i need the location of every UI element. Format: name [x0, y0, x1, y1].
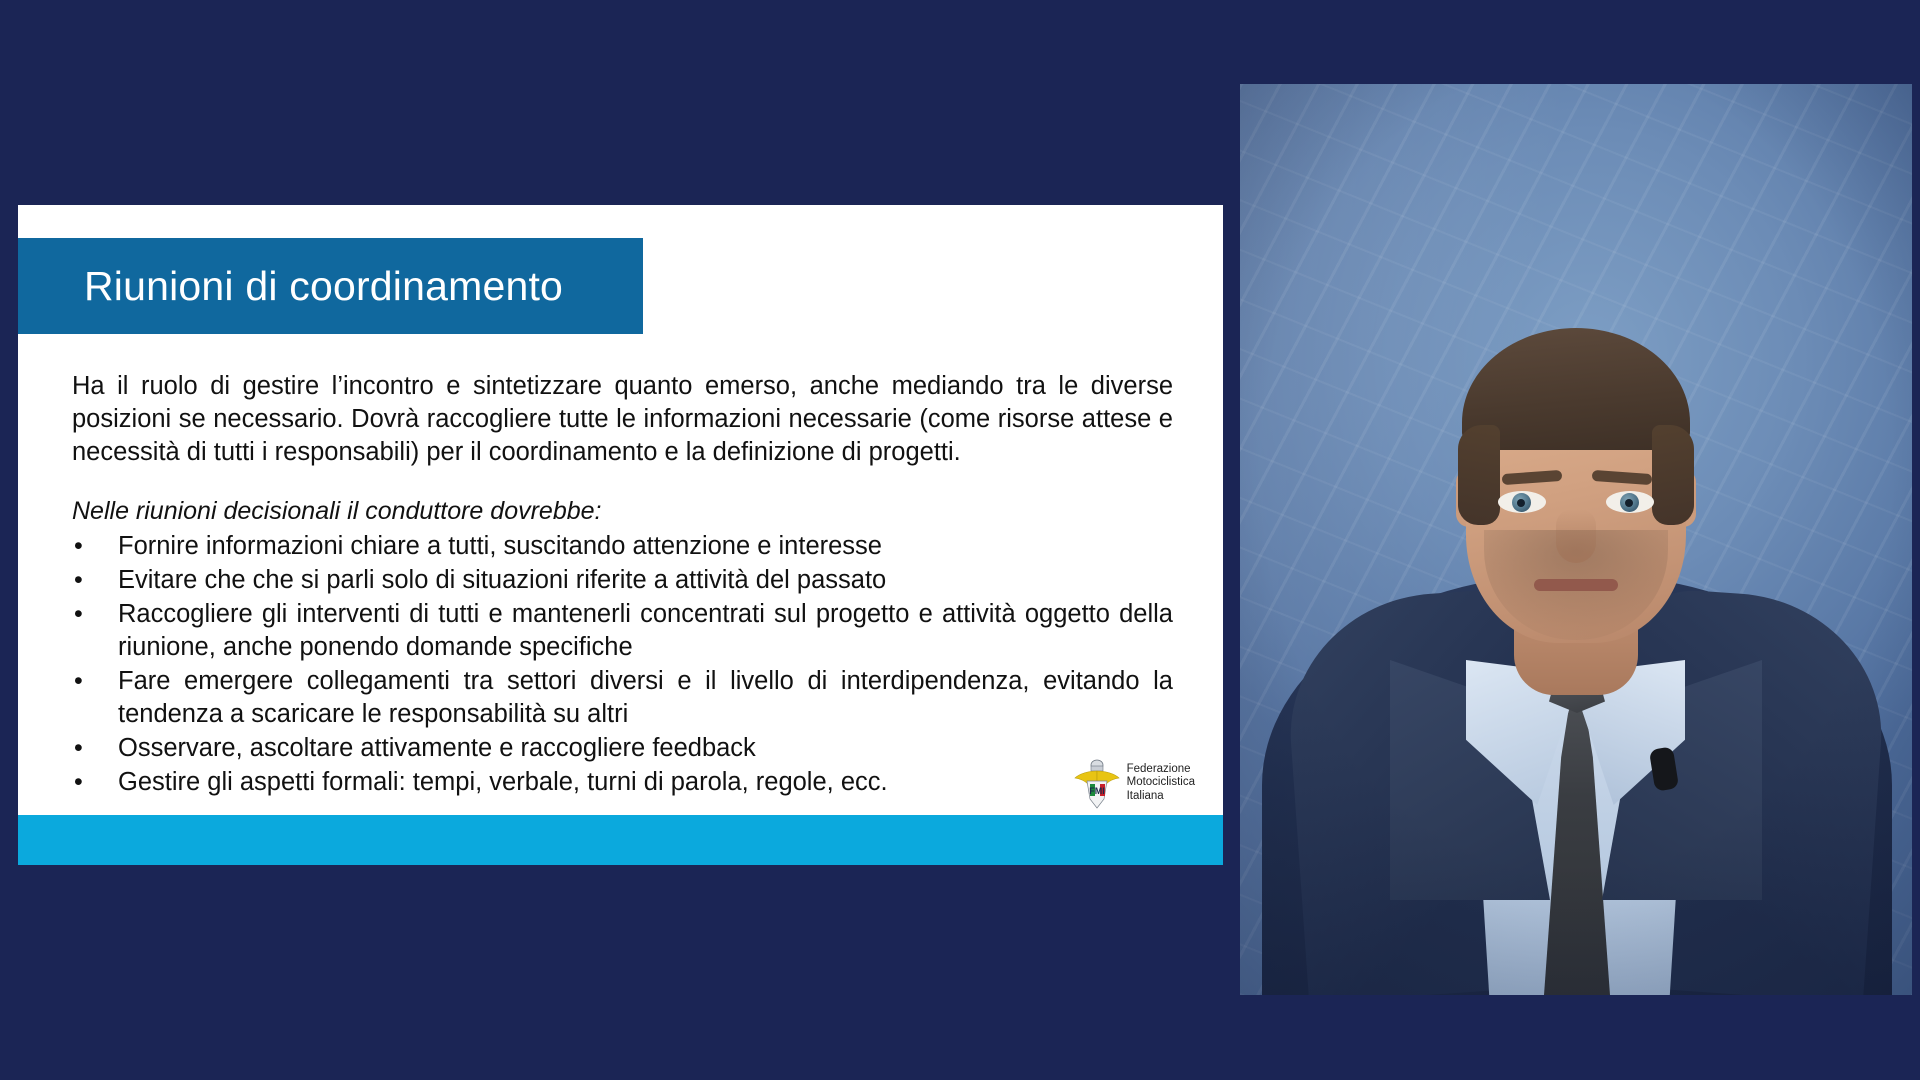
bullet-list: • Fornire informazioni chiare a tutti, s…: [72, 530, 1173, 799]
list-item-text: Fare emergere collegamenti tra settori d…: [118, 667, 1173, 728]
list-item-text: Gestire gli aspetti formali: tempi, verb…: [118, 768, 888, 796]
bullet-icon: •: [74, 732, 83, 765]
bullet-icon: •: [74, 766, 83, 799]
slide-content: Ha il ruolo di gestire l’incontro e sint…: [72, 370, 1173, 800]
list-item: • Gestire gli aspetti formali: tempi, ve…: [72, 766, 1173, 799]
fmi-logo-line1: Federazione: [1127, 763, 1195, 777]
bullet-icon: •: [74, 665, 83, 698]
fmi-logo-line3: Italiana: [1127, 790, 1195, 804]
list-item: • Evitare che che si parli solo di situa…: [72, 564, 1173, 597]
bullet-icon: •: [74, 598, 83, 631]
bullet-list-lead-in: Nelle riunioni decisionali il conduttore…: [72, 495, 1173, 527]
list-item-text: Fornire informazioni chiare a tutti, sus…: [118, 532, 882, 560]
list-item: • Osservare, ascoltare attivamente e rac…: [72, 732, 1173, 765]
presentation-slide: Riunioni di coordinamento Ha il ruolo di…: [18, 205, 1223, 865]
list-item: • Fornire informazioni chiare a tutti, s…: [72, 530, 1173, 563]
list-item: • Raccogliere gli interventi di tutti e …: [72, 598, 1173, 664]
bullet-icon: •: [74, 564, 83, 597]
fmi-emblem-icon: FMI: [1074, 757, 1120, 809]
fmi-logo-text: Federazione Motociclistica Italiana: [1127, 763, 1195, 804]
slide-title-bar: Riunioni di coordinamento: [18, 238, 643, 334]
intro-paragraph: Ha il ruolo di gestire l’incontro e sint…: [72, 370, 1173, 469]
list-item: • Fare emergere collegamenti tra settori…: [72, 665, 1173, 731]
fmi-logo: FMI Federazione Motociclistica Italiana: [1074, 757, 1195, 809]
slide-body: Riunioni di coordinamento Ha il ruolo di…: [18, 205, 1223, 815]
svg-text:FMI: FMI: [1089, 786, 1105, 796]
slide-footer-bar: [18, 815, 1223, 865]
list-item-text: Raccogliere gli interventi di tutti e ma…: [118, 600, 1173, 661]
video-vignette: [1240, 84, 1912, 995]
fmi-logo-line2: Motociclistica: [1127, 776, 1195, 790]
presenter-video-feed[interactable]: [1240, 84, 1912, 995]
list-item-text: Osservare, ascoltare attivamente e racco…: [118, 734, 756, 762]
bullet-icon: •: [74, 530, 83, 563]
slide-title: Riunioni di coordinamento: [18, 263, 563, 310]
list-item-text: Evitare che che si parli solo di situazi…: [118, 566, 886, 594]
